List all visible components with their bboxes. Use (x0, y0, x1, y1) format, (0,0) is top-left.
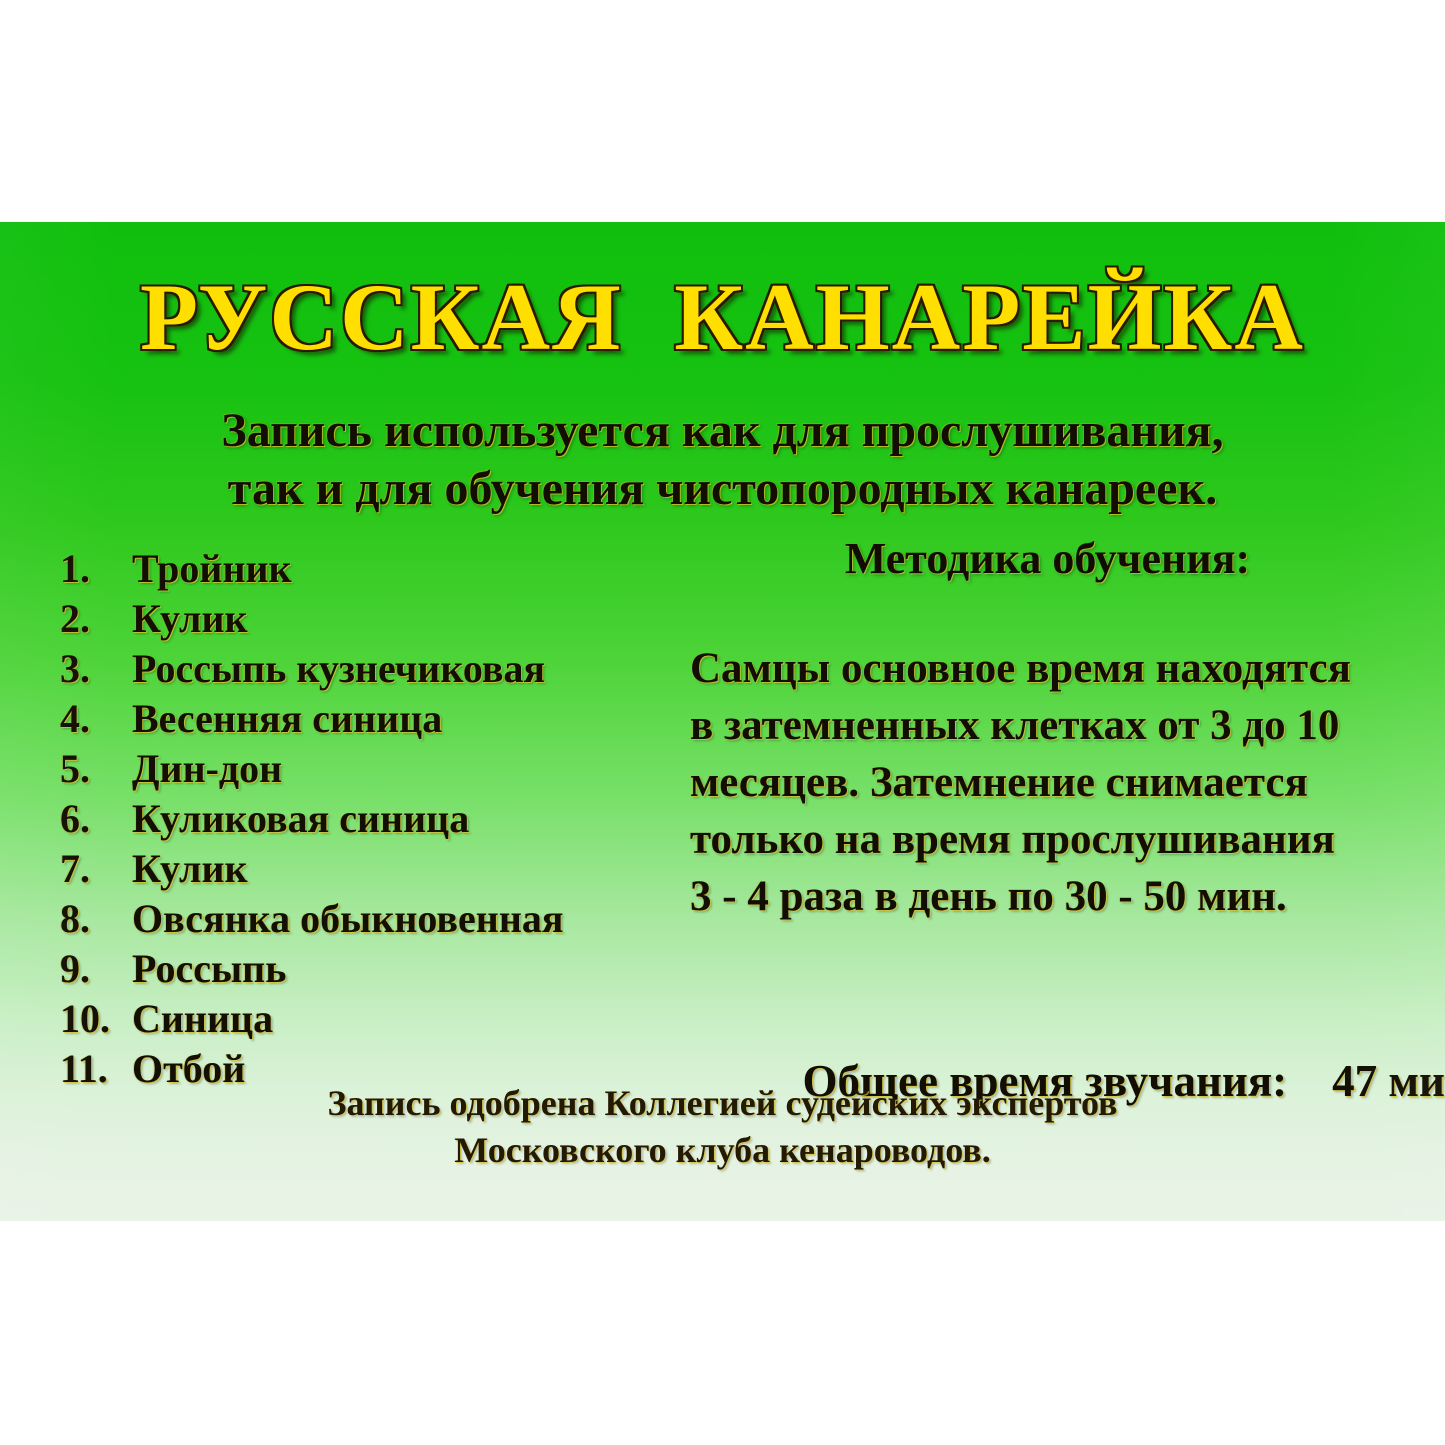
list-item: 5. Дин-дон (60, 744, 680, 794)
track-name: Весенняя синица (132, 694, 442, 744)
subtitle-line-1: Запись используется как для прослушивани… (0, 402, 1445, 460)
track-number: 8. (60, 894, 132, 944)
methodology-line-5: 3 - 4 раза в день по 30 - 50 мин. (690, 868, 1405, 925)
track-name: Россыпь кузнечиковая (132, 644, 545, 694)
track-name: Овсянка обыкновенная (132, 894, 564, 944)
footer-line-2: Московского клуба кенароводов. (0, 1127, 1445, 1174)
track-number: 9. (60, 944, 132, 994)
list-item: 1. Тройник (60, 544, 680, 594)
track-name: Дин-дон (132, 744, 282, 794)
approval-footer: Запись одобрена Коллегией судейских эксп… (0, 1080, 1445, 1174)
content-columns: 1. Тройник 2. Кулик 3. Россыпь кузнечико… (0, 532, 1445, 1092)
list-item: 9. Россыпь (60, 944, 680, 994)
list-item: 8. Овсянка обыкновенная (60, 894, 680, 944)
track-number: 6. (60, 794, 132, 844)
cd-insert-card: РУССКАЯ КАНАРЕЙКА Запись используется ка… (0, 222, 1445, 1221)
track-number: 10. (60, 994, 132, 1044)
methodology-line-2: в затемненных клетках от 3 до 10 (690, 697, 1405, 754)
track-number: 4. (60, 694, 132, 744)
track-name: Синица (132, 994, 273, 1044)
list-item: 7. Кулик (60, 844, 680, 894)
track-number: 2. (60, 594, 132, 644)
methodology-line-4: только на время прослушивания (690, 811, 1405, 868)
list-item: 10. Синица (60, 994, 680, 1044)
footer-line-1: Запись одобрена Коллегией судейских эксп… (0, 1080, 1445, 1127)
track-number: 7. (60, 844, 132, 894)
track-name: Россыпь (132, 944, 286, 994)
tracklist: 1. Тройник 2. Кулик 3. Россыпь кузнечико… (60, 544, 680, 1094)
track-number: 3. (60, 644, 132, 694)
subtitle-line-2: так и для обучения чистопородных канарее… (0, 460, 1445, 518)
page-title: РУССКАЯ КАНАРЕЙКА (0, 270, 1445, 365)
methodology-line-1: Самцы основное время находятся (690, 640, 1405, 697)
methodology-heading: Методика обучения: (690, 532, 1405, 586)
list-item: 3. Россыпь кузнечиковая (60, 644, 680, 694)
track-name: Куликовая синица (132, 794, 469, 844)
subtitle-block: Запись используется как для прослушивани… (0, 402, 1445, 518)
methodology-panel: Методика обучения: Самцы основное время … (690, 532, 1405, 1165)
methodology-body: Самцы основное время находятся в затемне… (690, 640, 1405, 925)
track-name: Кулик (132, 844, 248, 894)
track-number: 1. (60, 544, 132, 594)
track-number: 5. (60, 744, 132, 794)
list-item: 4. Весенняя синица (60, 694, 680, 744)
track-name: Тройник (132, 544, 292, 594)
track-name: Кулик (132, 594, 248, 644)
methodology-line-3: месяцев. Затемнение снимается (690, 754, 1405, 811)
list-item: 6. Куликовая синица (60, 794, 680, 844)
page-canvas: РУССКАЯ КАНАРЕЙКА Запись используется ка… (0, 0, 1445, 1445)
list-item: 2. Кулик (60, 594, 680, 644)
